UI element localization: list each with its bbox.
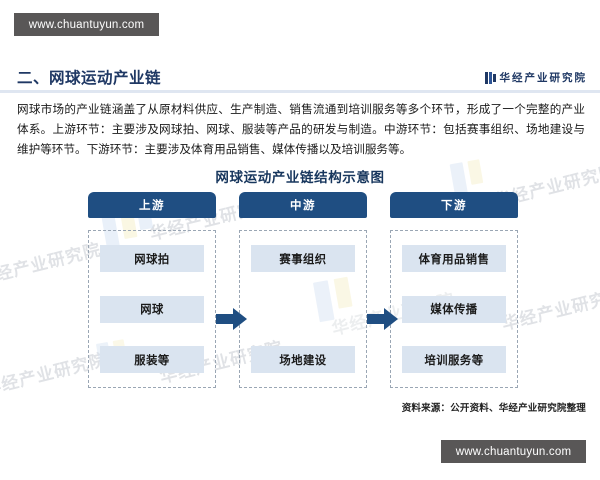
chain-column-downstream: 下游 体育用品销售 媒体传播 培训服务等 (390, 192, 518, 388)
page-title: 二、网球运动产业链 (17, 66, 161, 88)
body-paragraph: 网球市场的产业链涵盖了从原材料供应、生产制造、销售流通到培训服务等多个环节，形成… (17, 100, 585, 160)
column-body-upstream: 网球拍 网球 服装等 (88, 230, 216, 388)
chart-title: 网球运动产业链结构示意图 (0, 166, 600, 186)
column-header-midstream: 中游 (239, 192, 367, 218)
bars-logo-icon (485, 72, 496, 84)
column-header-upstream: 上游 (88, 192, 216, 218)
chain-item: 服装等 (100, 346, 204, 373)
brand-logo-group: 华经产业研究院 (485, 70, 588, 85)
header-divider (0, 90, 600, 93)
chain-item: 体育用品销售 (402, 245, 506, 272)
chain-item: 网球拍 (100, 245, 204, 272)
watermark-url-bottom: www.chuantuyun.com (441, 440, 586, 463)
chain-column-upstream: 上游 网球拍 网球 服装等 (88, 192, 216, 388)
chain-item: 网球 (100, 296, 204, 323)
brand-name: 华经产业研究院 (500, 70, 588, 85)
chain-item-empty (251, 296, 355, 323)
column-body-downstream: 体育用品销售 媒体传播 培训服务等 (390, 230, 518, 388)
column-body-midstream: 赛事组织 场地建设 (239, 230, 367, 388)
chart-source-note: 资料来源：公开资料、华经产业研究院整理 (402, 400, 586, 414)
chain-item: 赛事组织 (251, 245, 355, 272)
chain-item: 培训服务等 (402, 346, 506, 373)
industry-chain-diagram: 网球运动产业链结构示意图 上游 网球拍 网球 服装等 中游 赛事组织 场地建设 … (0, 160, 600, 425)
flow-arrow-right-icon (216, 308, 247, 330)
column-header-downstream: 下游 (390, 192, 518, 218)
chain-column-midstream: 中游 赛事组织 场地建设 (239, 192, 367, 388)
section-header: 二、网球运动产业链 华经产业研究院 (0, 66, 600, 92)
watermark-url-top: www.chuantuyun.com (14, 13, 159, 36)
flow-arrow-right-icon (367, 308, 398, 330)
chain-item: 场地建设 (251, 346, 355, 373)
chain-item: 媒体传播 (402, 296, 506, 323)
